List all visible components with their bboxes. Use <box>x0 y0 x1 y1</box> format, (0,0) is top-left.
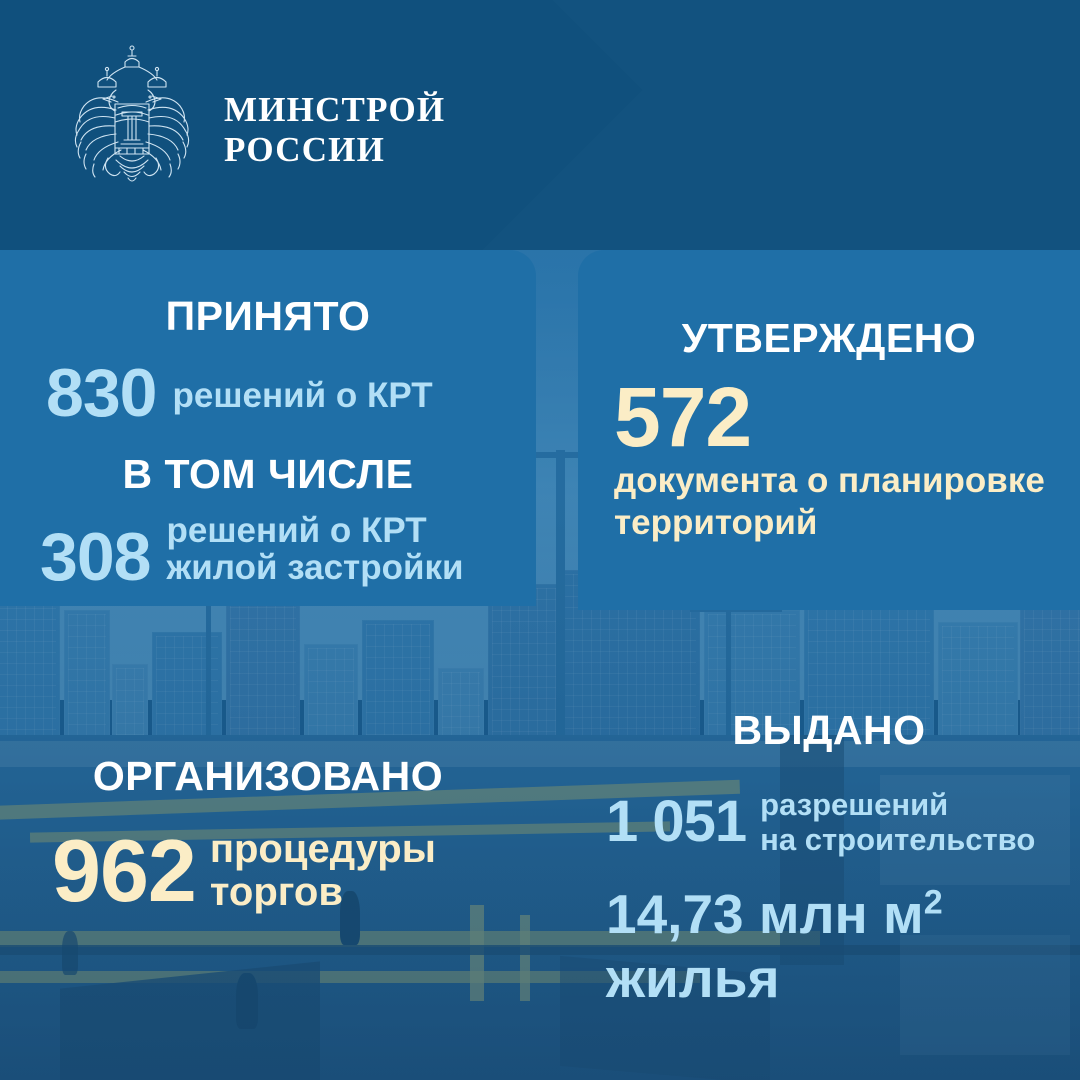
approved-caption-line2: территорий <box>614 504 1045 541</box>
organized-caption: процедуры торгов <box>210 828 436 914</box>
issued-caption-line1: разрешений <box>760 788 1035 823</box>
accepted-secondary-stat: 308 решений о КРТ жилой застройки <box>40 512 464 591</box>
card-accepted: ПРИНЯТО 830 решений о КРТ В ТОМ ЧИСЛЕ 30… <box>0 250 536 606</box>
approved-eyebrow: УТВЕРЖДЕНО <box>578 318 1080 359</box>
issued-area-unit: млн м <box>759 883 924 945</box>
approved-caption-line1: документа о планировке <box>614 462 1045 499</box>
organized-eyebrow: ОРГАНИЗОВАНО <box>0 756 536 797</box>
header-bar: МИНСТРОЙ РОССИИ <box>0 0 1080 250</box>
card-approved: УТВЕРЖДЕНО 572 документа о планировке те… <box>578 250 1080 610</box>
issued-area-stat: 14,73 млн м2 жилья <box>606 882 1080 1010</box>
issued-stat: 1 051 разрешений на строительство <box>606 788 1035 857</box>
accepted-eyebrow-secondary: В ТОМ ЧИСЛЕ <box>0 454 536 495</box>
issued-area-subject: жилья <box>606 947 780 1009</box>
issued-caption-line2: на строительство <box>760 823 1035 858</box>
approved-value: 572 <box>614 376 1045 458</box>
accepted-eyebrow: ПРИНЯТО <box>0 296 536 337</box>
issued-eyebrow: ВЫДАНО <box>578 710 1080 751</box>
issued-area-unit-superscript: 2 <box>924 884 943 922</box>
brand-lockup: МИНСТРОЙ РОССИИ <box>62 40 445 190</box>
card-organized: ОРГАНИЗОВАНО 962 процедуры торгов <box>0 606 536 1080</box>
card-issued: ВЫДАНО 1 051 разрешений на строительство… <box>578 610 1080 1080</box>
accepted-value: 830 <box>46 360 156 427</box>
organized-value: 962 <box>52 828 196 914</box>
russian-coat-of-arms-eagle-icon <box>62 40 202 190</box>
organized-caption-line2: торгов <box>210 871 436 914</box>
accepted-caption-secondary-line1: решений о КРТ <box>166 512 463 549</box>
issued-caption: разрешений на строительство <box>760 788 1035 857</box>
accepted-caption: решений о КРТ <box>172 377 432 426</box>
brand-title: МИНСТРОЙ РОССИИ <box>224 60 445 169</box>
approved-stat: 572 документа о планировке территорий <box>614 376 1045 541</box>
organized-caption-line1: процедуры <box>210 828 436 871</box>
accepted-primary-stat: 830 решений о КРТ <box>46 360 433 427</box>
issued-value: 1 051 <box>606 794 746 851</box>
issued-area-value: 14,73 <box>606 883 744 945</box>
infographic-poster: МИНСТРОЙ РОССИИ ПРИНЯТО 830 решений о КР… <box>0 0 1080 1080</box>
accepted-caption-secondary: решений о КРТ жилой застройки <box>166 512 463 591</box>
accepted-value-secondary: 308 <box>40 524 150 591</box>
accepted-caption-secondary-line2: жилой застройки <box>166 549 463 586</box>
organized-stat: 962 процедуры торгов <box>52 828 436 914</box>
